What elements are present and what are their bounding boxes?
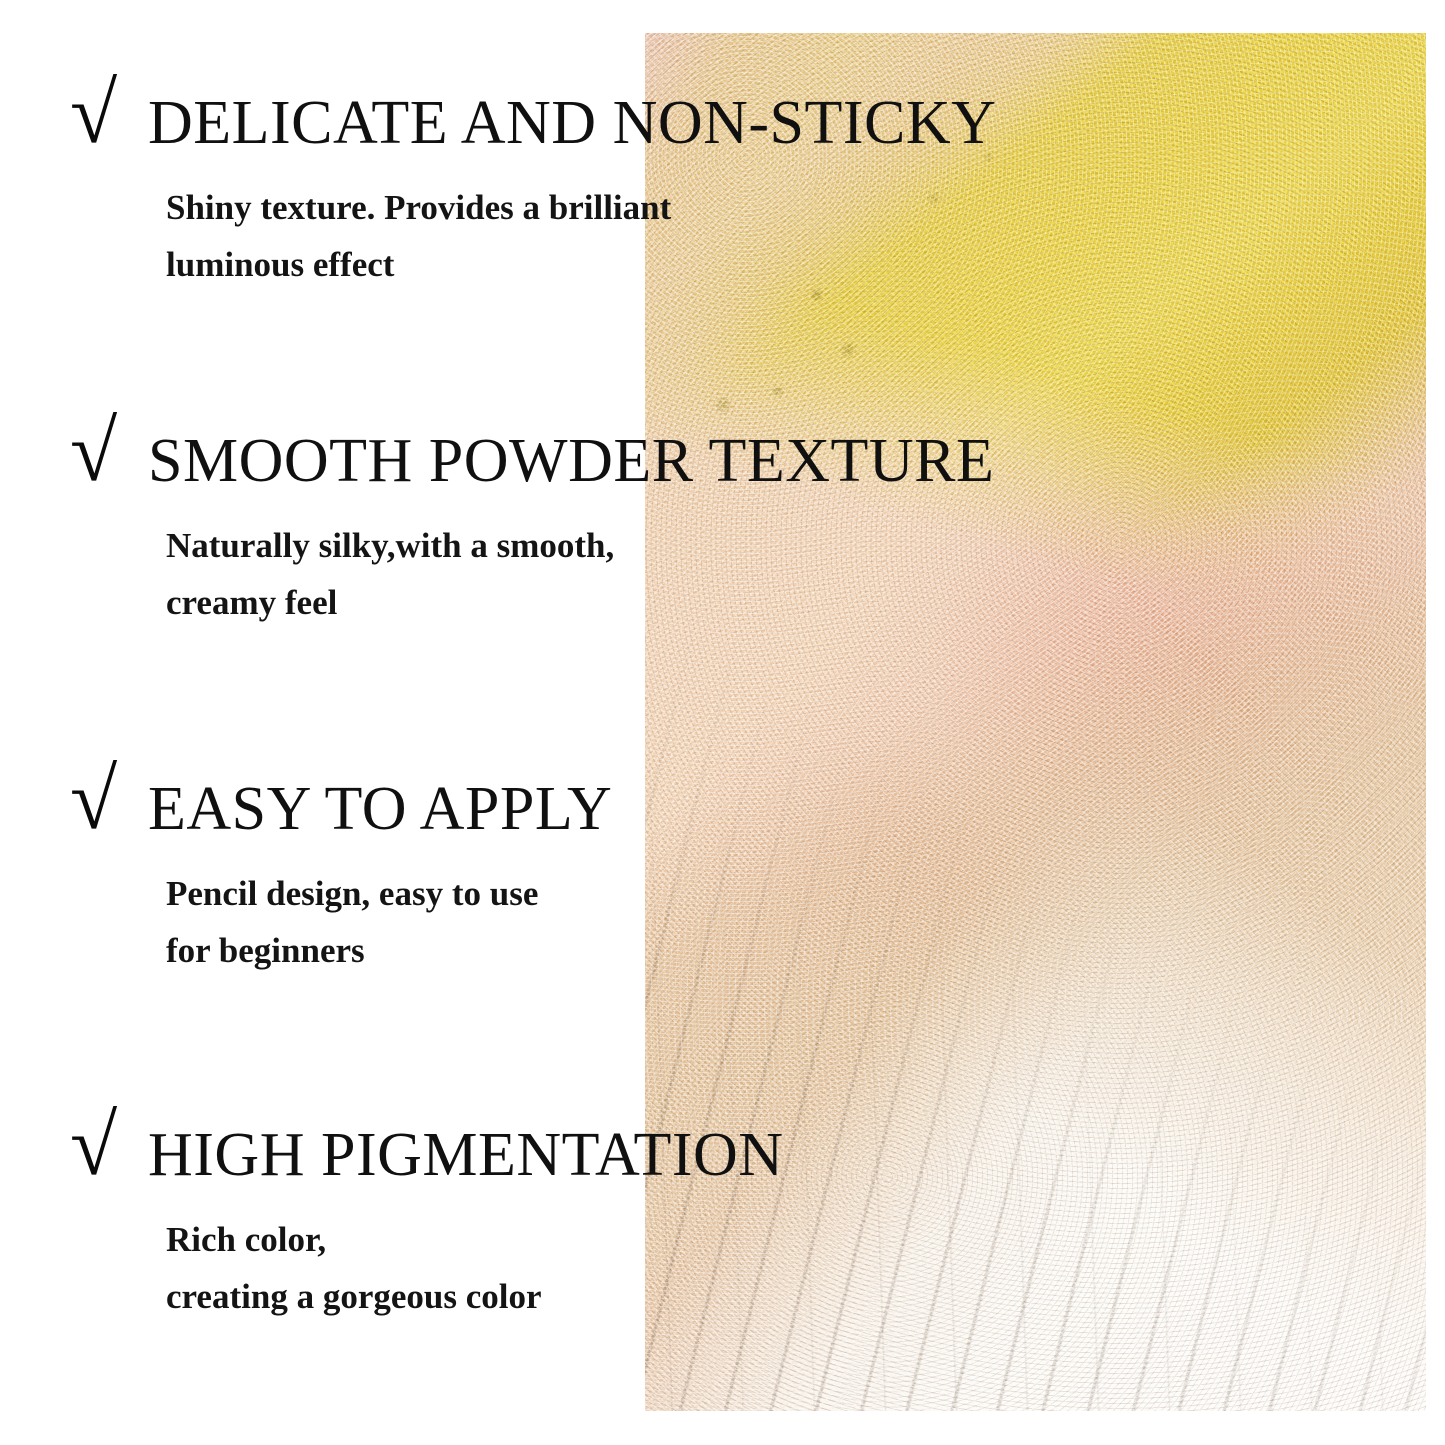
checkmark-icon: √ <box>70 1112 148 1179</box>
feature-title: SMOOTH POWDER TEXTURE <box>148 424 994 492</box>
feature-description-line: Rich color, <box>166 1212 866 1269</box>
feature-description-line: creating a gorgeous color <box>166 1269 866 1326</box>
feature-description: Naturally silky,with a smooth, creamy fe… <box>166 518 866 631</box>
feature-title: HIGH PIGMENTATION <box>148 1118 784 1186</box>
feature-description-line: creamy feel <box>166 575 866 632</box>
feature-list: √ DELICATE AND NON-STICKY Shiny texture.… <box>0 0 1445 1445</box>
feature-heading-row: √ DELICATE AND NON-STICKY <box>70 86 1410 154</box>
checkmark-icon: √ <box>70 766 148 833</box>
feature-heading-row: √ HIGH PIGMENTATION <box>70 1118 1410 1186</box>
feature-description-line: Naturally silky,with a smooth, <box>166 518 866 575</box>
feature-heading-row: √ SMOOTH POWDER TEXTURE <box>70 424 1410 492</box>
feature-description-line: for beginners <box>166 923 866 980</box>
feature-description: Pencil design, easy to use for beginners <box>166 866 866 979</box>
feature-description-line: luminous effect <box>166 237 866 294</box>
checkmark-icon: √ <box>70 418 148 485</box>
checkmark-icon: √ <box>70 80 148 147</box>
feature-item: √ DELICATE AND NON-STICKY Shiny texture.… <box>70 86 1410 293</box>
feature-item: √ EASY TO APPLY Pencil design, easy to u… <box>70 772 1410 979</box>
feature-description: Shiny texture. Provides a brilliant lumi… <box>166 180 866 293</box>
feature-item: √ SMOOTH POWDER TEXTURE Naturally silky,… <box>70 424 1410 631</box>
feature-description-line: Pencil design, easy to use <box>166 866 866 923</box>
feature-title: DELICATE AND NON-STICKY <box>148 86 996 154</box>
feature-heading-row: √ EASY TO APPLY <box>70 772 1410 840</box>
feature-description-line: Shiny texture. Provides a brilliant <box>166 180 866 237</box>
product-feature-graphic: √ DELICATE AND NON-STICKY Shiny texture.… <box>0 0 1445 1445</box>
feature-description: Rich color, creating a gorgeous color <box>166 1212 866 1325</box>
feature-title: EASY TO APPLY <box>148 772 612 840</box>
feature-item: √ HIGH PIGMENTATION Rich color, creating… <box>70 1118 1410 1325</box>
